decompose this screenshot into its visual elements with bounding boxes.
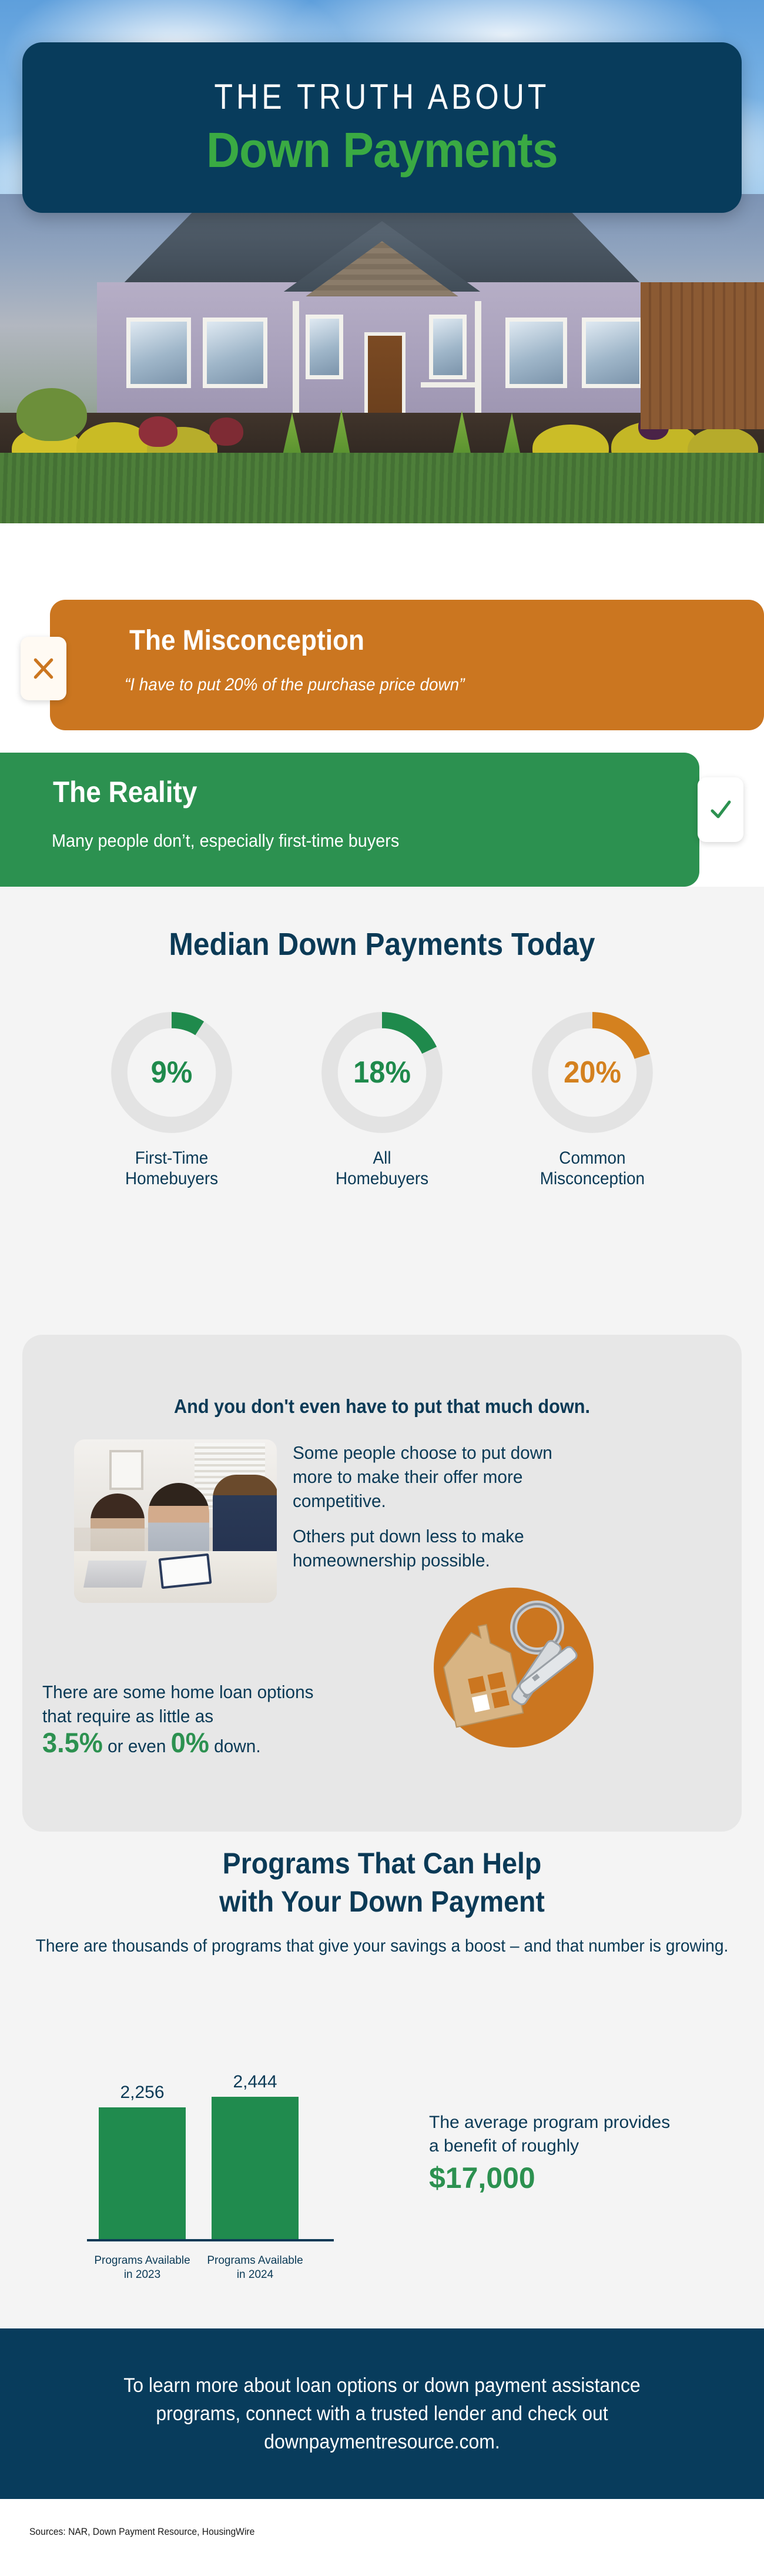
donut-label-line-1: First-Time (135, 1148, 208, 1168)
programs-bar-chart: 2,256 2,444 Programs Available in 2023 P… (65, 2052, 358, 2287)
donut-label-line-2: Homebuyers (125, 1169, 218, 1188)
window-left-1 (126, 318, 191, 388)
explainer-paragraph-2: Others put down less to make homeownersh… (293, 1524, 586, 1572)
title-card: THE TRUTH ABOUT Down Payments (22, 42, 742, 213)
average-benefit-text: The average program provides a benefit o… (429, 2111, 676, 2157)
donut-value: 18% (323, 1010, 440, 1135)
explainer-paragraph-1: Some people choose to put down more to m… (293, 1441, 586, 1513)
chart-baseline-axis (87, 2239, 334, 2241)
window-right-1 (505, 318, 567, 388)
donut-label-line-2: Homebuyers (336, 1169, 428, 1188)
window-center-left (306, 315, 343, 379)
title-kicker: THE TRUTH ABOUT (215, 76, 550, 117)
sources-line: Sources: NAR, Down Payment Resource, Hou… (29, 2526, 254, 2538)
porch-railing (421, 382, 480, 387)
photo-laptop (83, 1561, 147, 1588)
front-door (364, 332, 406, 426)
bar-category-2024: Programs Available in 2024 (206, 2254, 304, 2283)
value-tail-text: down. (214, 1736, 260, 1756)
donut-value: 20% (534, 1010, 651, 1135)
porch-post-left (293, 301, 299, 428)
photo-person-man (148, 1483, 209, 1559)
bar-category-2023: Programs Available in 2023 (93, 2254, 192, 2283)
donut-chart-group: 9% First-Time Homebuyers 18% All Homebuy… (0, 1010, 764, 1190)
bar-category-2024-line-1: Programs Available (207, 2254, 303, 2267)
programs-subtitle: There are thousands of programs that giv… (23, 1934, 741, 1957)
programs-title-line-2: with Your Down Payment (27, 1885, 738, 1919)
donut-label-line-2: Misconception (540, 1169, 645, 1188)
page-title: Down Payments (206, 122, 558, 179)
bar-value-2023: 2,256 (99, 2083, 186, 2103)
average-benefit-amount: $17,000 (429, 2161, 676, 2195)
donut-item-first-time: 9% First-Time Homebuyers (92, 1010, 251, 1190)
bar-2023 (99, 2107, 186, 2240)
bar-value-2024: 2,444 (212, 2072, 299, 2092)
photo-picture-frame (109, 1450, 143, 1490)
misconception-quote: “I have to put 20% of the purchase price… (125, 675, 464, 695)
value-0-percent: 0% (171, 1727, 209, 1758)
donut-label-line-1: All (373, 1148, 391, 1168)
bush-red-2 (209, 417, 243, 446)
window-right-2 (582, 318, 644, 388)
misconception-band (50, 600, 764, 730)
median-section-title: Median Down Payments Today (31, 926, 733, 963)
donut-gauge: 18% (320, 1010, 444, 1135)
infographic-page: THE TRUTH ABOUT Down Payments The Miscon… (0, 0, 764, 2576)
loan-options-lead: There are some home loan options that re… (42, 1680, 336, 1728)
donut-item-misconception: 20% Common Misconception (513, 1010, 672, 1190)
donut-value: 9% (113, 1010, 230, 1135)
bar-category-2023-line-2: in 2023 (124, 2268, 160, 2281)
explainer-heading: And you don't even have to put that much… (48, 1395, 716, 1418)
reality-title: The Reality (53, 775, 197, 809)
house-photo (0, 194, 764, 523)
reality-subtitle: Many people don’t, especially first-time… (52, 830, 399, 851)
porch-post-right (475, 301, 481, 428)
couple-signing-documents-photo (74, 1439, 277, 1603)
donut-label: All Homebuyers (336, 1148, 428, 1190)
bar-2024 (212, 2097, 299, 2240)
window-center-right (429, 315, 467, 379)
donut-item-all-buyers: 18% All Homebuyers (303, 1010, 461, 1190)
programs-title-line-1: Programs That Can Help (27, 1846, 738, 1880)
donut-label: First-Time Homebuyers (125, 1148, 218, 1190)
reality-band (0, 753, 699, 887)
loan-options-values: 3.5% or even 0% down. (42, 1729, 358, 1756)
house-keychain-with-keys-icon (411, 1571, 611, 1765)
average-benefit-block: The average program provides a benefit o… (429, 2111, 676, 2195)
donut-gauge: 9% (109, 1010, 234, 1135)
bar-category-2023-line-1: Programs Available (94, 2254, 190, 2267)
bar-group: 2,256 2,444 (65, 2081, 358, 2240)
check-mark-icon (698, 777, 743, 842)
photo-clipboard (159, 1553, 212, 1589)
photo-person-woman (91, 1494, 145, 1558)
hero-section: THE TRUTH ABOUT Down Payments (0, 0, 764, 635)
donut-gauge: 20% (530, 1010, 655, 1135)
wood-fence (641, 282, 764, 429)
donut-label-line-1: Common (559, 1148, 625, 1168)
window-left-2 (203, 318, 267, 388)
footer-cta-text: To learn more about loan options or down… (83, 2371, 680, 2457)
bush-red-1 (139, 416, 177, 447)
value-connector-text: or even (108, 1736, 166, 1756)
x-mark-icon (21, 637, 66, 700)
bush-green-left (16, 388, 87, 441)
value-3point5-percent: 3.5% (42, 1727, 103, 1758)
front-lawn (0, 453, 764, 523)
bar-category-2024-line-2: in 2024 (237, 2268, 273, 2281)
footer-cta-band: To learn more about loan options or down… (0, 2328, 764, 2499)
misconception-title: The Misconception (129, 624, 364, 657)
donut-label: Common Misconception (540, 1148, 645, 1190)
